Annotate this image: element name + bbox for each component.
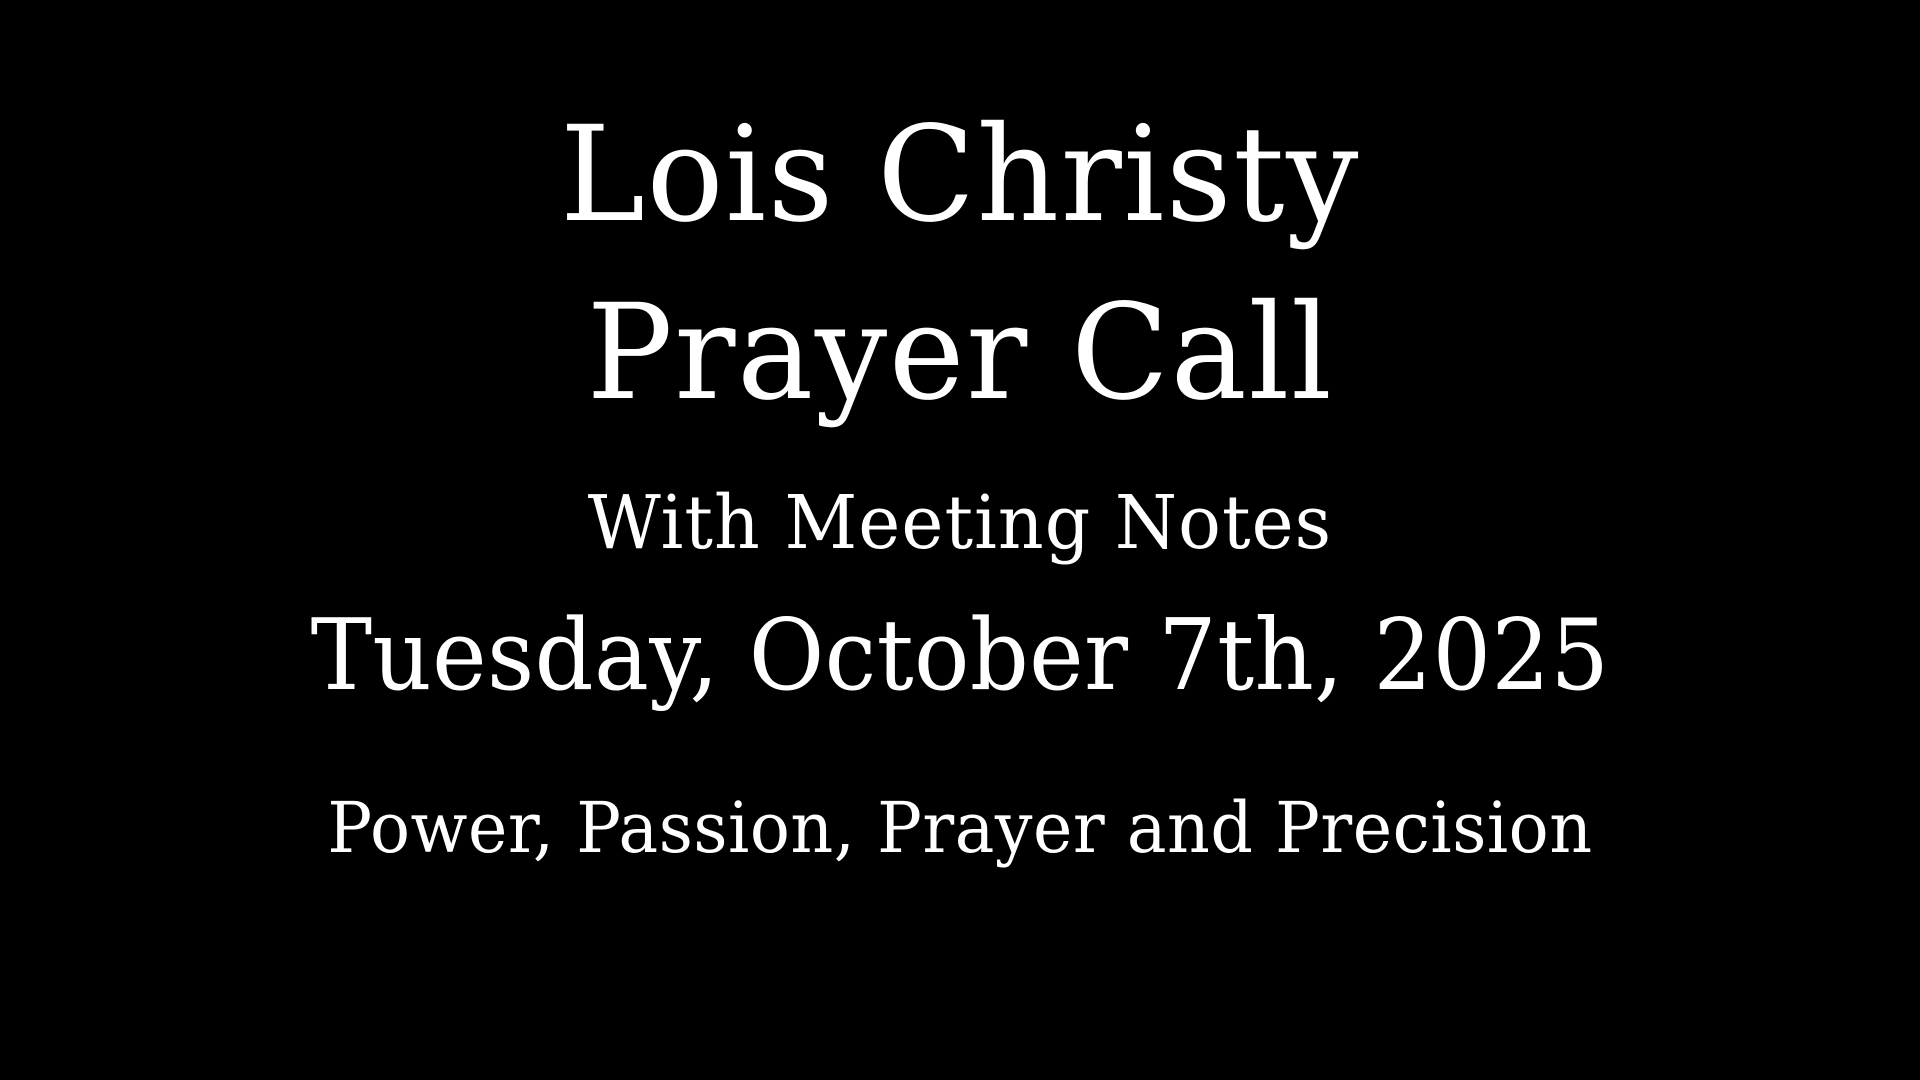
tagline: Power, Passion, Prayer and Precision — [48, 786, 1872, 870]
title-line-primary: Lois Christy — [29, 100, 1891, 250]
event-date: Tuesday, October 7th, 2025 — [58, 598, 1863, 714]
title-line-secondary: Prayer Call — [29, 278, 1891, 428]
subtitle: With Meeting Notes — [38, 480, 1881, 566]
title-card-slide: Lois Christy Prayer Call With Meeting No… — [0, 0, 1920, 1080]
